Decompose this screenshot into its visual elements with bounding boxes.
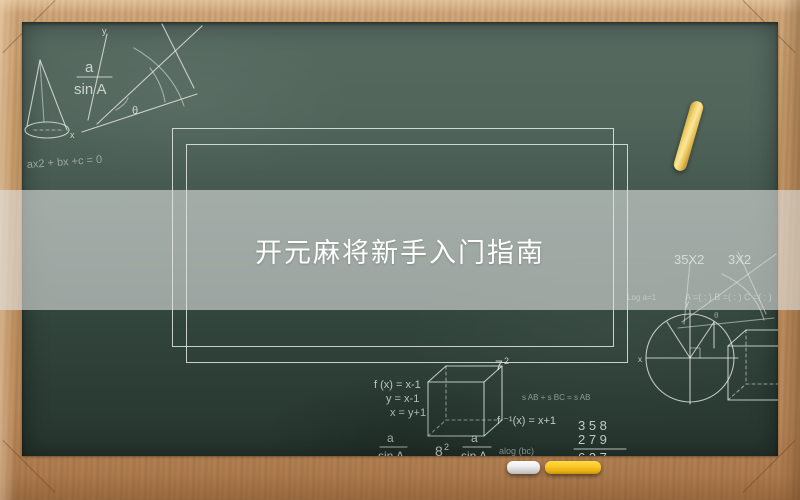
alog-bc-label: alog (bc): [499, 446, 534, 456]
svg-text:3 5 8: 3 5 8: [578, 418, 607, 433]
addition-column: 3 5 8 2 7 9 6 3 7: [574, 418, 626, 456]
svg-text:θ: θ: [132, 105, 138, 117]
svg-text:a: a: [387, 431, 394, 445]
seven-squared-sup: 2: [504, 356, 509, 366]
svg-text:2 7 9: 2 7 9: [578, 432, 607, 447]
svg-text:a: a: [471, 431, 478, 445]
cone-drawing: [25, 60, 69, 138]
svg-text:x: x: [638, 355, 642, 364]
chalkboard-poster: a sin A y x θ ax2 +: [0, 0, 800, 500]
svg-text:sin A: sin A: [461, 449, 487, 456]
eight-squared-sup: 2: [444, 442, 449, 452]
svg-text:y: y: [102, 26, 107, 36]
eight-squared: 8: [435, 443, 443, 456]
page-title: 开元麻将新手入门指南: [255, 231, 545, 270]
chalk-piece-yellow: [545, 461, 601, 474]
vector-sum: s AB + s BC = s AB: [522, 393, 590, 402]
fraction-a-over-sin-a-lower-left: a sin A: [378, 431, 407, 456]
quadratic-equation: ax2 + bx +c = 0: [26, 154, 102, 171]
svg-text:a: a: [85, 59, 94, 76]
seven-squared: 7: [495, 357, 503, 373]
svg-text:sin A: sin A: [74, 81, 107, 98]
svg-text:x = y+1: x = y+1: [390, 407, 426, 419]
fraction-a-over-sin-a-top: a sin A: [74, 59, 112, 98]
svg-text:f (x) = x-1: f (x) = x-1: [374, 379, 421, 391]
svg-text:6 3 7: 6 3 7: [578, 450, 607, 456]
function-equations: f (x) = x-1 y = x-1 x = y+1: [374, 379, 426, 419]
inverse-function: f ⁻¹(x) = x+1: [497, 415, 556, 427]
svg-text:x: x: [70, 130, 75, 140]
caption-band: 开元麻将新手入门指南: [0, 190, 800, 310]
chalk-piece-white: [507, 461, 540, 474]
svg-text:sin A: sin A: [378, 449, 404, 456]
circle-axes-diagram: y x: [638, 299, 738, 404]
svg-text:θ: θ: [714, 311, 719, 320]
cube-wireframe-left: [428, 366, 502, 436]
cube-wireframe-right: [728, 330, 778, 400]
fraction-a-over-sin-a-under-cube: a sin A: [461, 431, 491, 456]
svg-text:y = x-1: y = x-1: [386, 393, 419, 405]
